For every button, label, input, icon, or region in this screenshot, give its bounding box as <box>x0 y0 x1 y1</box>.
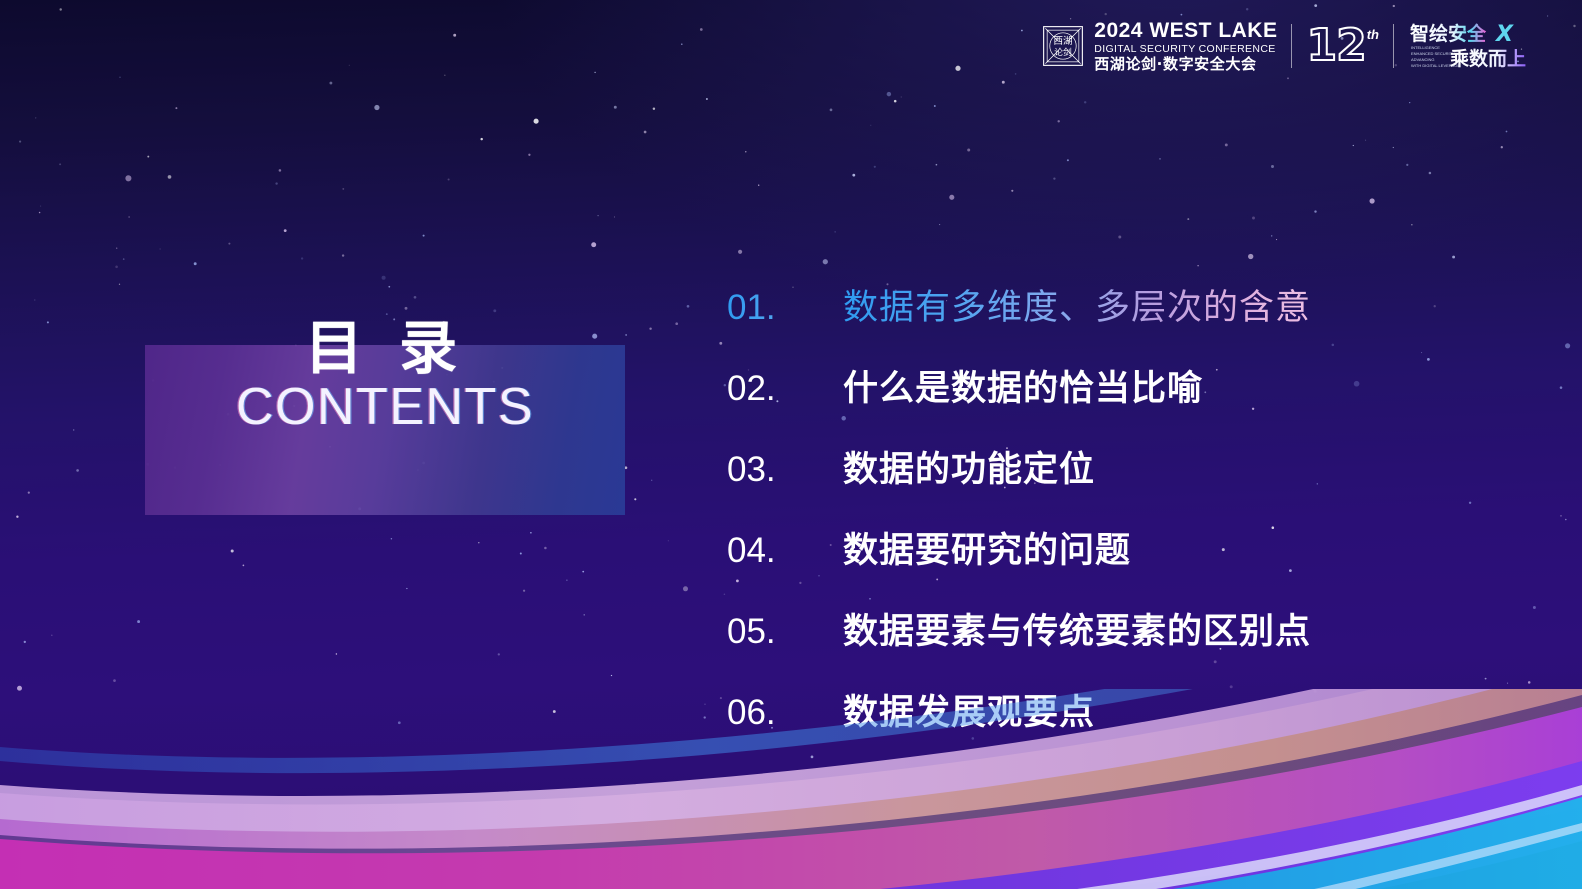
toc-item-number: 04. <box>727 531 843 571</box>
edition-ordinal-suffix: th <box>1367 27 1379 42</box>
conference-name-subtitle: DIGITAL SECURITY CONFERENCE <box>1094 44 1277 55</box>
toc-item[interactable]: 02.什么是数据的恰当比喻 <box>727 360 1427 441</box>
toc-item-number: 03. <box>727 450 843 490</box>
conference-slogan-icon: 智绘安全 X 乘数而上 INTELLIGENCE ENHANCED SECURI… <box>1408 20 1548 72</box>
toc-item-label: 数据的功能定位 <box>843 441 1095 492</box>
toc-item-number: 01. <box>727 288 843 328</box>
toc-item-number: 02. <box>727 369 843 409</box>
table-of-contents-list: 01.数据有多维度、多层次的含意02.什么是数据的恰当比喻03.数据的功能定位0… <box>727 279 1427 765</box>
toc-item[interactable]: 01.数据有多维度、多层次的含意 <box>727 279 1427 360</box>
svg-text:论剑: 论剑 <box>1054 46 1072 58</box>
toc-item[interactable]: 05.数据要素与传统要素的区别点 <box>727 603 1427 684</box>
conference-name-chinese: 西湖论剑·数字安全大会 <box>1094 57 1277 72</box>
conference-logo-bar: 西湖 论剑 2024 WEST LAKE DIGITAL SECURITY CO… <box>1041 18 1548 74</box>
toc-item[interactable]: 04.数据要研究的问题 <box>727 522 1427 603</box>
toc-item[interactable]: 06.数据发展观要点 <box>727 684 1427 765</box>
svg-text:西湖: 西湖 <box>1054 35 1073 47</box>
conference-wordmark: 2024 WEST LAKE DIGITAL SECURITY CONFEREN… <box>1094 20 1277 72</box>
edition-number: 12 <box>1306 25 1365 67</box>
toc-item-number: 06. <box>727 693 843 733</box>
svg-text:X: X <box>1494 22 1514 47</box>
toc-item[interactable]: 03.数据的功能定位 <box>727 441 1427 522</box>
svg-text:WITH DIGITAL LEVERAGE: WITH DIGITAL LEVERAGE <box>1411 63 1460 68</box>
conference-name-year: 2024 WEST LAKE <box>1094 20 1277 41</box>
west-lake-seal-icon: 西湖 论剑 <box>1041 24 1085 68</box>
toc-item-label: 数据发展观要点 <box>843 684 1095 735</box>
logo-divider-1 <box>1291 24 1292 68</box>
logo-divider-2 <box>1393 24 1394 68</box>
presentation-slide: 西湖 论剑 2024 WEST LAKE DIGITAL SECURITY CO… <box>0 0 1582 889</box>
toc-item-number: 05. <box>727 612 843 652</box>
svg-text:INTELLIGENCE: INTELLIGENCE <box>1411 45 1440 50</box>
toc-item-label: 什么是数据的恰当比喻 <box>843 360 1203 411</box>
svg-text:ENHANCED SECURITY: ENHANCED SECURITY <box>1411 51 1455 56</box>
toc-title-panel <box>145 345 625 515</box>
toc-item-label: 数据要研究的问题 <box>843 522 1131 573</box>
toc-item-label: 数据有多维度、多层次的含意 <box>843 279 1311 330</box>
svg-text:智绘安全: 智绘安全 <box>1410 22 1487 45</box>
svg-text:乘数而上: 乘数而上 <box>1449 47 1526 70</box>
svg-text:ADVANCING: ADVANCING <box>1411 57 1434 62</box>
edition-badge: 12 th <box>1306 25 1379 67</box>
toc-item-label: 数据要素与传统要素的区别点 <box>843 603 1311 654</box>
